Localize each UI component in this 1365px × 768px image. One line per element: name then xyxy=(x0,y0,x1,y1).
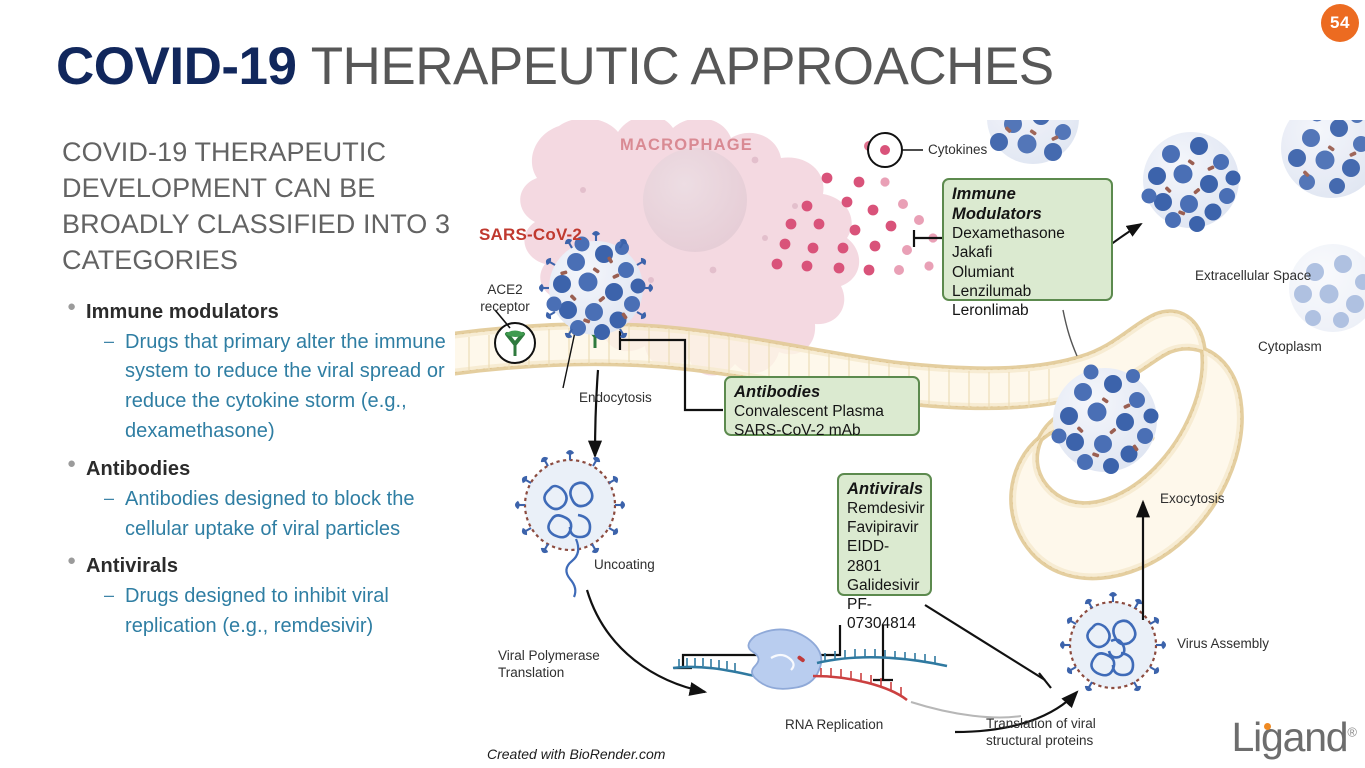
virion-released-1 xyxy=(1142,132,1241,232)
bullet-subtext: Drugs that primary alter the immune syst… xyxy=(125,328,470,447)
rna-replication-label: RNA Replication xyxy=(785,717,883,734)
box-item: Dexamethasone xyxy=(952,224,1103,243)
dash-icon: – xyxy=(104,328,125,354)
virion-released-2 xyxy=(987,120,1079,164)
bullet-dot-icon: ● xyxy=(62,553,86,569)
box-item: Olumiant xyxy=(952,263,1103,282)
box-item: Galidesivir xyxy=(847,576,922,595)
slide: 54 COVID-19 THERAPEUTIC APPROACHES COVID… xyxy=(0,0,1365,768)
logo-text: Ligand xyxy=(1231,714,1347,760)
box-heading: Antivirals xyxy=(847,479,922,499)
logo-registered-mark: ® xyxy=(1347,724,1357,739)
bullet-heading: Antibodies xyxy=(86,456,190,482)
bullet-dot-icon: ● xyxy=(62,299,86,315)
box-item: Jakafi xyxy=(952,243,1103,262)
translation-arrow xyxy=(587,590,705,692)
list-item: ● Antibodies – Antibodies designed to bl… xyxy=(62,456,482,545)
ace2-receptor-callout xyxy=(495,310,535,363)
page-number-badge: 54 xyxy=(1321,4,1359,42)
virion-assembly xyxy=(1060,592,1166,693)
bullet-subtext: Antibodies designed to block the cellula… xyxy=(125,485,470,545)
bullet-level1: ● Antibodies xyxy=(62,456,482,482)
bullet-heading: Immune modulators xyxy=(86,299,279,325)
translation-structural-proteins-label: Translation of viral structural proteins xyxy=(986,716,1096,750)
box-item: PF-07304814 xyxy=(847,595,922,633)
uncoating-label: Uncoating xyxy=(594,557,655,574)
extracellular-space-label: Extracellular Space xyxy=(1195,268,1311,285)
sars-cov2-label: SARS-CoV-2 xyxy=(479,225,582,245)
box-item: SARS-CoV-2 mAb xyxy=(734,421,910,440)
bullet-list: ● Immune modulators – Drugs that primary… xyxy=(62,299,482,642)
cytoplasm-label: Cytoplasm xyxy=(1258,339,1322,356)
biorender-credit: Created with BioRender.com xyxy=(487,746,665,762)
bullet-subtext: Drugs designed to inhibit viral replicat… xyxy=(125,582,470,642)
ligand-logo: Ligand® xyxy=(1231,717,1357,758)
virus-assembly-label: Virus Assembly xyxy=(1177,636,1269,653)
page-title-light: THERAPEUTIC APPROACHES xyxy=(311,37,1054,96)
box-heading: Antibodies xyxy=(734,382,910,402)
dash-icon: – xyxy=(104,582,125,608)
antibodies-box: Antibodies Convalescent Plasma SARS-CoV-… xyxy=(724,376,920,436)
cytokine-callout xyxy=(868,133,923,167)
bullet-level2: – Drugs designed to inhibit viral replic… xyxy=(62,582,482,642)
page-title-strong: COVID-19 xyxy=(56,37,296,96)
macrophage-label: MACROPHAGE xyxy=(620,136,753,155)
bullet-heading: Antivirals xyxy=(86,553,178,579)
exocytosis-label: Exocytosis xyxy=(1160,491,1225,508)
bullet-level2: – Drugs that primary alter the immune sy… xyxy=(62,328,482,447)
box-item: Lenzilumab xyxy=(952,282,1103,301)
bullet-level1: ● Immune modulators xyxy=(62,299,482,325)
dash-icon: – xyxy=(104,485,125,511)
rna-replication-graphic xyxy=(673,629,1021,717)
ace2-receptor-label: ACE2 receptor xyxy=(475,282,535,316)
virion-released-3 xyxy=(1281,120,1365,198)
antivirals-box: Antivirals Remdesivir Favipiravir EIDD-2… xyxy=(837,473,932,596)
box-item: Favipiravir xyxy=(847,518,922,537)
bullet-dot-icon: ● xyxy=(62,456,86,472)
endocytosis-arrow xyxy=(595,370,598,456)
virion-released-4 xyxy=(1289,244,1365,332)
virion-uncoating xyxy=(515,450,625,597)
box-item: Convalescent Plasma xyxy=(734,402,910,421)
endocytosis-label: Endocytosis xyxy=(579,390,652,407)
cytokines-label: Cytokines xyxy=(928,142,987,159)
lead-paragraph: COVID-19 THERAPEUTIC DEVELOPMENT CAN BE … xyxy=(62,135,482,279)
bullet-level2: – Antibodies designed to block the cellu… xyxy=(62,485,482,545)
list-item: ● Antivirals – Drugs designed to inhibit… xyxy=(62,553,482,642)
page-title: COVID-19 THERAPEUTIC APPROACHES xyxy=(56,40,1054,93)
left-text-column: COVID-19 THERAPEUTIC DEVELOPMENT CAN BE … xyxy=(62,135,482,642)
box-item: Leronlimab xyxy=(952,301,1103,320)
list-item: ● Immune modulators – Drugs that primary… xyxy=(62,299,482,447)
biorender-diagram: MACROPHAGE SARS-CoV-2 Cytokines ACE2 rec… xyxy=(455,120,1365,768)
box-heading: Immune Modulators xyxy=(952,184,1103,224)
box-item: Remdesivir xyxy=(847,499,922,518)
box-item: EIDD-2801 xyxy=(847,537,922,575)
viral-polymerase-translation-label: Viral Polymerase Translation xyxy=(498,648,600,682)
immune-modulators-box: Immune Modulators Dexamethasone Jakafi O… xyxy=(942,178,1113,301)
bullet-level1: ● Antivirals xyxy=(62,553,482,579)
